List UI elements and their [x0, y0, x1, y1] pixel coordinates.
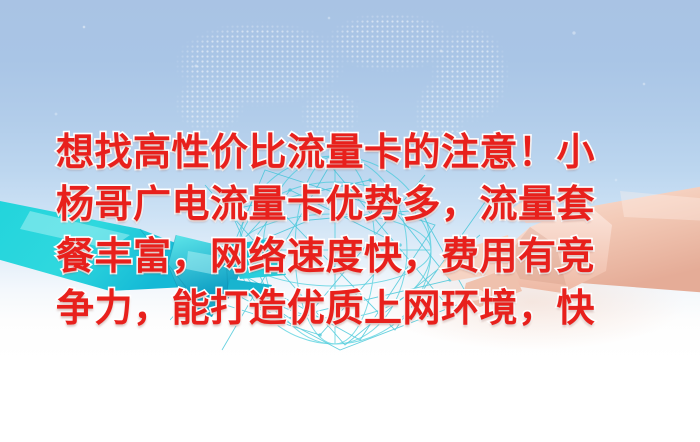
headline-line-3: 餐丰富，网络速度快，费用有竞 — [56, 230, 656, 282]
headline-line-2: 杨哥广电流量卡优势多，流量套 — [56, 178, 656, 230]
headline-text-block: 想找高性价比流量卡的注意！小 杨哥广电流量卡优势多，流量套 餐丰富，网络速度快，… — [56, 126, 656, 334]
headline-line-4: 争力，能打造优质上网环境，快 — [56, 282, 656, 334]
poster-canvas: 想找高性价比流量卡的注意！小 杨哥广电流量卡优势多，流量套 餐丰富，网络速度快，… — [0, 0, 700, 442]
headline-line-1: 想找高性价比流量卡的注意！小 — [56, 126, 656, 178]
